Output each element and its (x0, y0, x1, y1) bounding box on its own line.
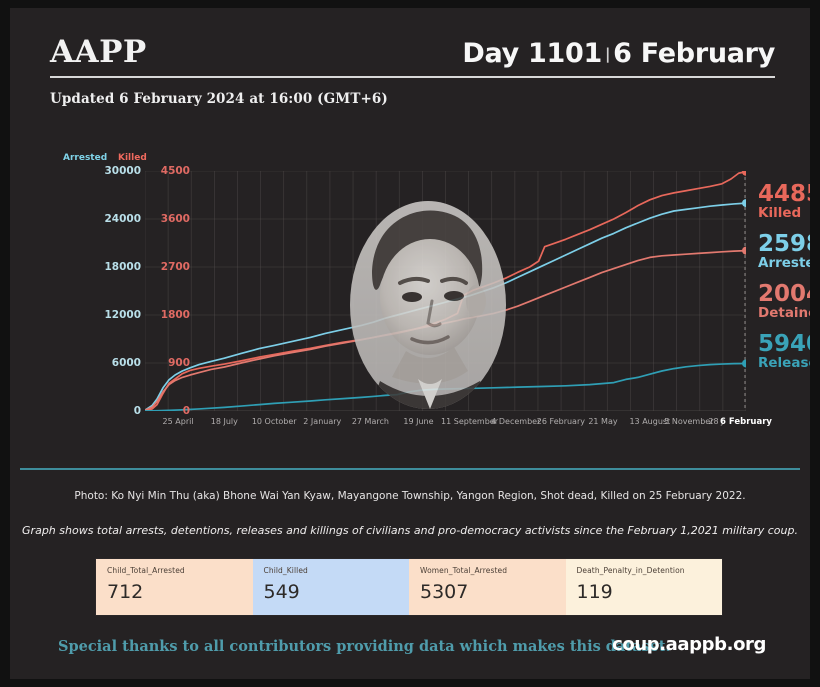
y-tick-killed: 900 (168, 357, 190, 369)
brand-title: AAPP (50, 34, 147, 70)
section-divider (20, 468, 800, 470)
right-axis-title: Killed (118, 153, 147, 163)
series-endpoint-released (742, 359, 746, 367)
x-tick-label: 2 January (303, 417, 341, 426)
stat-card-label: Women_Total_Arrested (420, 566, 555, 575)
x-tick-label: 21 May (588, 417, 617, 426)
date-label: 6 February (613, 38, 775, 69)
endpoint-value: 4485 (758, 183, 810, 206)
x-tick-label: 26 February (537, 417, 585, 426)
plot-area: 0600012000180002400030000090018002700360… (145, 171, 746, 411)
y-tick-arrested: 18000 (104, 261, 141, 273)
graph-caption: Graph shows total arrests, detentions, r… (10, 524, 810, 537)
header: AAPP Day 1101|6 February Updated 6 Febru… (50, 34, 775, 107)
y-tick-killed: 4500 (161, 165, 190, 177)
website-link[interactable]: coup.aappb.org (612, 634, 766, 655)
stat-card: Child_Total_Arrested712 (96, 559, 253, 615)
stat-cards: Child_Total_Arrested712Child_Killed549Wo… (96, 559, 722, 615)
stat-card-value: 549 (264, 581, 399, 603)
infographic-card: AAPP Day 1101|6 February Updated 6 Febru… (10, 8, 810, 679)
endpoint-caption: Killed (758, 207, 810, 221)
photo-caption: Photo: Ko Nyi Min Thu (aka) Bhone Wai Ya… (10, 490, 810, 502)
x-tick-label: 10 October (252, 417, 297, 426)
y-tick-arrested: 0 (134, 405, 141, 417)
y-tick-killed: 0 (183, 405, 190, 417)
x-tick-label: 25 April (163, 417, 194, 426)
chart-svg (145, 171, 746, 411)
stat-card-value: 119 (577, 581, 712, 603)
x-tick-label: 4 December (491, 417, 540, 426)
thanks-text: Special thanks to all contributors provi… (58, 638, 671, 655)
endpoint-label-killed: 4485Killed (758, 183, 810, 221)
endpoint-label-arrested: 25987Arrested (758, 233, 810, 271)
x-tick-label: 6 February (720, 417, 772, 427)
stat-card: Child_Killed549 (253, 559, 410, 615)
endpoint-label-detained: 20047Detained (758, 283, 810, 321)
stat-card: Death_Penalty_in_Detention119 (566, 559, 723, 615)
left-axis-title: Arrested (63, 153, 107, 163)
endpoint-caption: Released (758, 357, 810, 371)
x-tick-label: 11 September (441, 417, 498, 426)
y-tick-arrested: 6000 (112, 357, 141, 369)
y-tick-killed: 1800 (161, 309, 190, 321)
x-tick-label: 19 June (403, 417, 433, 426)
day-date-title: Day 1101|6 February (462, 38, 775, 69)
y-tick-killed: 2700 (161, 261, 190, 273)
y-tick-arrested: 30000 (104, 165, 141, 177)
y-tick-arrested: 24000 (104, 213, 141, 225)
y-tick-arrested: 12000 (104, 309, 141, 321)
series-endpoint-detained (742, 247, 746, 255)
stat-card-value: 5307 (420, 581, 555, 603)
y-tick-killed: 3600 (161, 213, 190, 225)
series-endpoint-arrested (742, 199, 746, 207)
chart: Arrested Killed (56, 153, 768, 443)
stat-card-label: Child_Total_Arrested (107, 566, 242, 575)
stat-card-label: Death_Penalty_in_Detention (577, 566, 712, 575)
x-tick-label: 27 March (352, 417, 389, 426)
header-rule (50, 76, 775, 78)
endpoint-caption: Arrested (758, 257, 810, 271)
updated-timestamp: Updated 6 February 2024 at 16:00 (GMT+6) (50, 91, 775, 107)
endpoint-value: 5940 (758, 333, 810, 356)
endpoint-value: 25987 (758, 233, 810, 256)
endpoint-caption: Detained (758, 307, 810, 321)
x-tick-label: 18 July (211, 417, 238, 426)
screenshot-root: AAPP Day 1101|6 February Updated 6 Febru… (0, 0, 820, 687)
endpoint-label-released: 5940Released (758, 333, 810, 371)
stat-card: Women_Total_Arrested5307 (409, 559, 566, 615)
stat-card-value: 712 (107, 581, 242, 603)
x-tick-label: 5 November (664, 417, 713, 426)
endpoint-value: 20047 (758, 283, 810, 306)
title-separator: | (602, 45, 613, 63)
day-counter: Day 1101 (462, 38, 602, 69)
series-endpoint-killed (742, 171, 746, 176)
header-row: AAPP Day 1101|6 February (50, 34, 775, 76)
stat-card-label: Child_Killed (264, 566, 399, 575)
